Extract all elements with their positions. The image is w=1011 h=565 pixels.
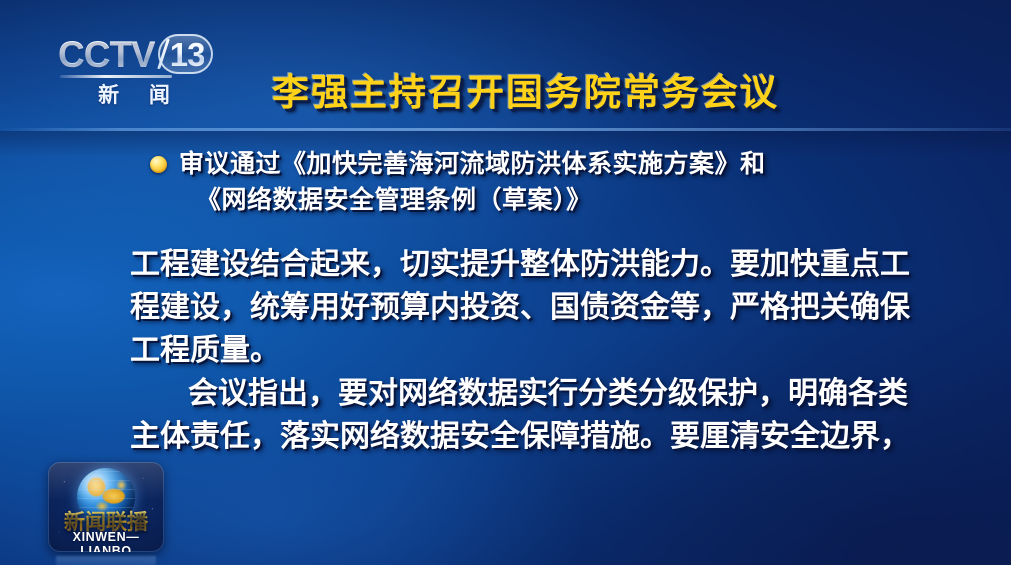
subheadline-block: 审议通过《加快完善海河流域防洪体系实施方案》和 《网络数据安全管理条例（草案）》 bbox=[150, 146, 890, 218]
body-line: 工程建设结合起来，切实提升整体防洪能力。要加快重点工 bbox=[130, 243, 900, 286]
body-line: 工程质量。 bbox=[130, 329, 900, 372]
body-line: 主体责任，落实网络数据安全保障措施。要厘清安全边界， bbox=[130, 415, 900, 458]
body-line: 程建设，统筹用好预算内投资、国债资金等，严格把关确保 bbox=[130, 286, 900, 329]
subheadline-line-2: 《网络数据安全管理条例（草案）》 bbox=[150, 182, 890, 218]
body-copy-block: 工程建设结合起来，切实提升整体防洪能力。要加快重点工 程建设，统筹用好预算内投资… bbox=[130, 243, 900, 458]
subheadline-line-1: 审议通过《加快完善海河流域防洪体系实施方案》和 bbox=[150, 146, 890, 182]
subheadline-line-2-text: 《网络数据安全管理条例（草案）》 bbox=[196, 182, 592, 218]
bullet-dot-icon bbox=[150, 156, 167, 173]
body-line: 会议指出，要对网络数据实行分类分级保护，明确各类 bbox=[130, 372, 900, 415]
program-badge-title-en: XINWEN—LIANBO bbox=[48, 530, 164, 552]
headline-title: 李强主持召开国务院常务会议 bbox=[0, 62, 1011, 116]
broadcast-screen: CCTV 13 新 闻 李强主持召开国务院常务会议 审议通过《加快完善海河流域防… bbox=[0, 0, 1011, 565]
subheadline-line-1-text: 审议通过《加快完善海河流域防洪体系实施方案》和 bbox=[179, 146, 766, 182]
program-badge: 新闻联播 XINWEN—LIANBO bbox=[48, 462, 164, 552]
